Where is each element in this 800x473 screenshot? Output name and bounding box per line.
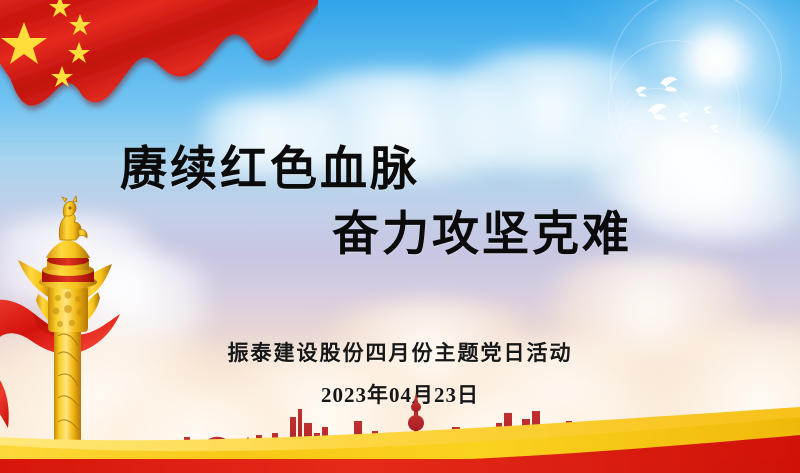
party-day-event-poster: 赓续红色血脉 奋力攻坚克难 振泰建设股份四月份主题党日活动 2023年04月23… [0,0,800,473]
event-subtitle: 振泰建设股份四月份主题党日活动 [0,337,800,367]
title-line-1: 赓续红色血脉 [0,138,800,203]
flying-doves-icon [630,68,760,148]
title-line-2: 奋力攻坚克难 [0,203,800,268]
poster-title: 赓续红色血脉 奋力攻坚克难 [0,138,800,268]
bottom-red-strip [0,459,800,473]
